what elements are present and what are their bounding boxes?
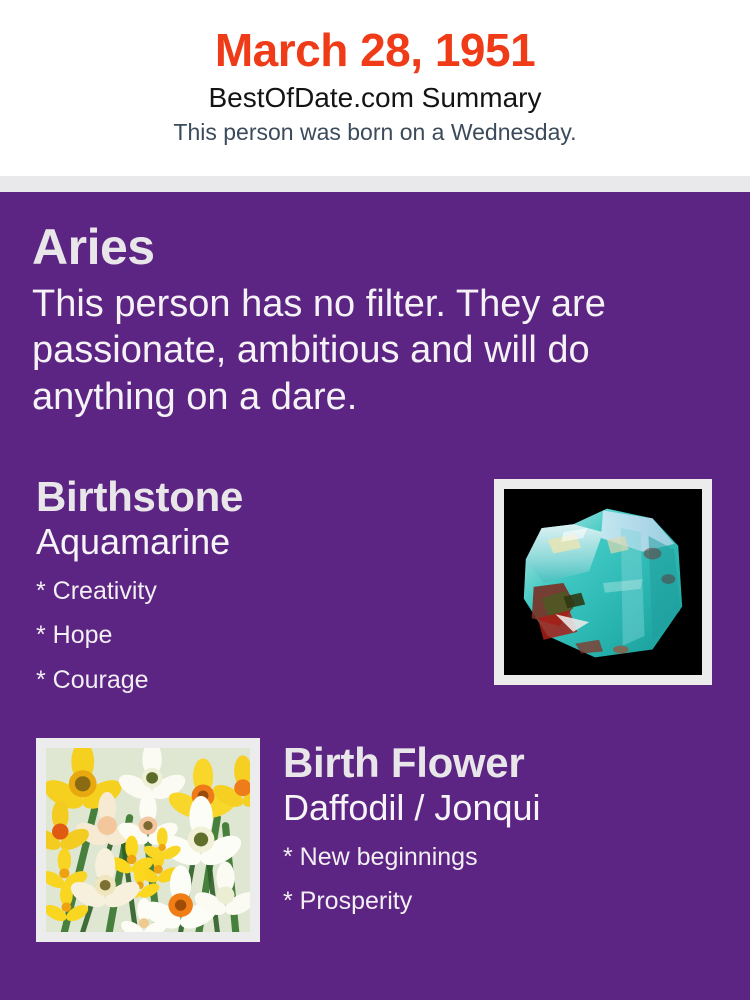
birthstone-image — [504, 489, 702, 675]
birth-flower-heading: Birth Flower — [283, 740, 723, 786]
aquamarine-crystal-icon — [504, 489, 702, 675]
list-item: * Courage — [36, 658, 476, 703]
zodiac-description: This person has no filter. They are pass… — [32, 275, 642, 420]
birthstone-section: Birthstone Aquamarine * Creativity * Hop… — [36, 474, 476, 702]
list-item: * Creativity — [36, 569, 476, 614]
birth-flower-image-frame — [36, 738, 260, 942]
birth-flower-section: Birth Flower Daffodil / Jonqui * New beg… — [283, 740, 723, 924]
birth-flower-image — [46, 748, 250, 932]
list-item: * Hope — [36, 613, 476, 658]
page-title-date: March 28, 1951 — [0, 0, 750, 76]
header: March 28, 1951 BestOfDate.com Summary Th… — [0, 0, 750, 176]
list-item: * New beginnings — [283, 835, 723, 880]
daffodil-flowers-icon — [46, 748, 250, 932]
day-of-week-note: This person was born on a Wednesday. — [0, 114, 750, 146]
birth-flower-name: Daffodil / Jonqui — [283, 786, 723, 828]
birthstone-name: Aquamarine — [36, 520, 476, 562]
zodiac-sign-heading: Aries — [32, 220, 672, 275]
birth-flower-trait-list: * New beginnings * Prosperity — [283, 829, 723, 924]
zodiac-section: Aries This person has no filter. They ar… — [32, 220, 672, 420]
site-name-subtitle: BestOfDate.com Summary — [0, 76, 750, 114]
birthstone-trait-list: * Creativity * Hope * Courage — [36, 563, 476, 703]
summary-card: March 28, 1951 BestOfDate.com Summary Th… — [0, 0, 750, 1000]
list-item: * Prosperity — [283, 879, 723, 924]
header-divider — [0, 176, 750, 192]
birthstone-heading: Birthstone — [36, 474, 476, 520]
birthstone-image-frame — [494, 479, 712, 685]
